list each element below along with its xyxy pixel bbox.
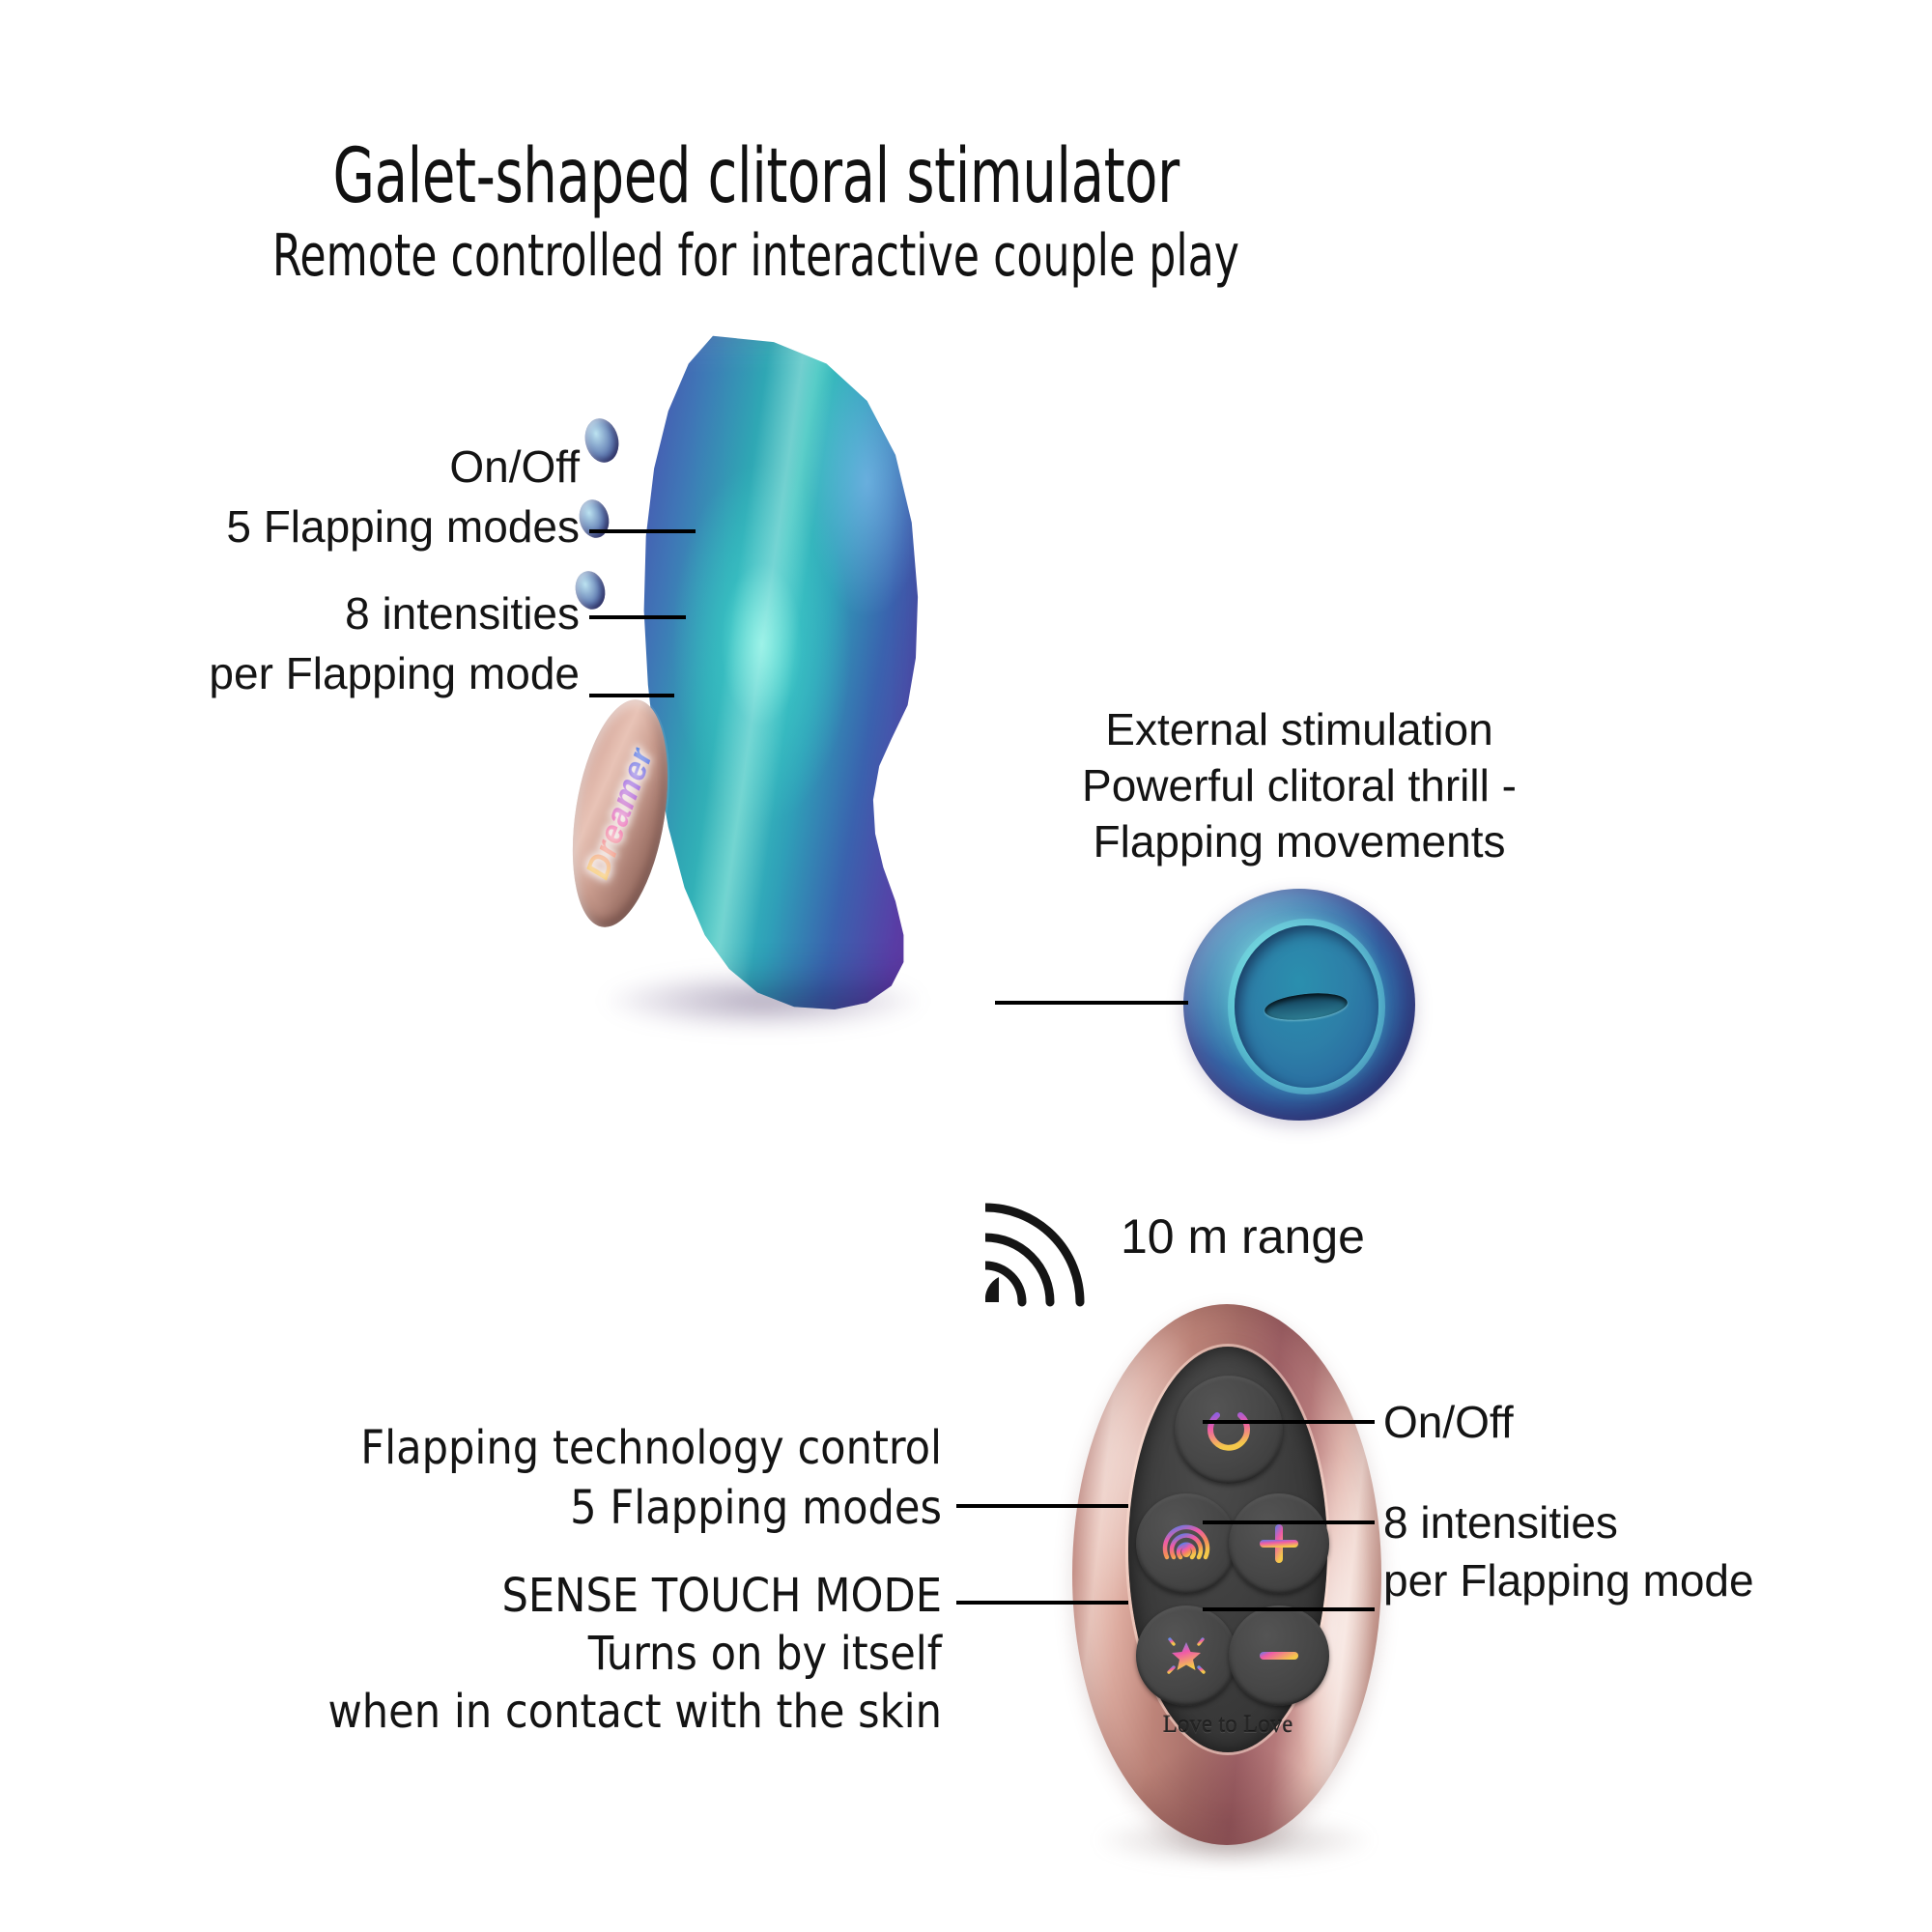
flapping-mode-button[interactable] bbox=[1136, 1493, 1236, 1594]
nozzle-recess-ring bbox=[1235, 925, 1378, 1088]
device-intensity-up-button bbox=[576, 497, 613, 541]
page-title-text: Galet-shaped clitoral stimulator bbox=[332, 135, 1179, 218]
power-icon bbox=[1202, 1403, 1256, 1457]
leader-line-remote-intensity-1 bbox=[1203, 1520, 1375, 1524]
device-intensity-annotation: 8 intensities per Flapping mode bbox=[87, 583, 580, 703]
device-power-annotation-line1: On/Off bbox=[87, 437, 580, 497]
concentric-rings-icon bbox=[1161, 1519, 1211, 1569]
remote-mode-annotation-line2: 5 Flapping modes bbox=[174, 1478, 942, 1538]
leader-line-remote-power bbox=[1203, 1420, 1375, 1424]
remote-intensity-annotation-line1: 8 intensities bbox=[1383, 1493, 1886, 1551]
minus-icon bbox=[1254, 1631, 1304, 1681]
wifi-signal-icon bbox=[985, 1196, 1092, 1312]
remote-mode-annotation: Flapping technology control 5 Flapping m… bbox=[174, 1418, 942, 1538]
leader-line-remote-sense bbox=[956, 1601, 1128, 1605]
stimulator-device-illustration: Dreamer bbox=[551, 333, 1014, 1067]
page-title: Galet-shaped clitoral stimulator bbox=[0, 135, 1512, 218]
page-subtitle-text: Remote controlled for interactive couple… bbox=[272, 224, 1239, 288]
intensity-up-button[interactable] bbox=[1229, 1493, 1329, 1594]
leader-line-device-intensity-1 bbox=[589, 615, 686, 619]
intensity-down-button[interactable] bbox=[1229, 1605, 1329, 1706]
dreamer-brand-logo: Dreamer bbox=[579, 743, 661, 884]
remote-brand-label: Love to Love bbox=[1128, 1712, 1327, 1739]
remote-control-illustration: Love to Love bbox=[1072, 1304, 1401, 1893]
nozzle-opening-slot bbox=[1264, 990, 1349, 1024]
power-icon-button[interactable] bbox=[1175, 1376, 1283, 1484]
nozzle-annotation: External stimulation Powerful clitoral t… bbox=[1029, 701, 1570, 869]
nozzle-closeup-illustration bbox=[1183, 889, 1415, 1121]
remote-power-annotation-line1: On/Off bbox=[1383, 1393, 1886, 1451]
page-subtitle: Remote controlled for interactive couple… bbox=[0, 224, 1512, 288]
remote-sense-annotation-line2: Turns on by itself bbox=[174, 1625, 942, 1683]
leader-line-remote-mode bbox=[956, 1504, 1128, 1508]
remote-intensity-annotation-line2: per Flapping mode bbox=[1383, 1551, 1886, 1609]
remote-intensity-annotation: 8 intensities per Flapping mode bbox=[1383, 1493, 1886, 1609]
nozzle-annotation-line3: Flapping movements bbox=[1029, 813, 1570, 869]
plus-icon bbox=[1254, 1519, 1304, 1569]
leader-line-device-intensity-2 bbox=[589, 694, 674, 697]
remote-sense-annotation: SENSE TOUCH MODE Turns on by itself when… bbox=[174, 1567, 942, 1741]
nozzle-annotation-line1: External stimulation bbox=[1029, 701, 1570, 757]
device-power-button bbox=[581, 415, 623, 467]
remote-button-panel: Love to Love bbox=[1128, 1347, 1327, 1752]
sense-touch-button[interactable] bbox=[1136, 1605, 1236, 1706]
remote-power-annotation: On/Off bbox=[1383, 1393, 1886, 1451]
device-intensity-annotation-line1: 8 intensities bbox=[87, 583, 580, 643]
wireless-range-text: 10 m range bbox=[1121, 1207, 1526, 1265]
device-intensity-annotation-line2: per Flapping mode bbox=[87, 643, 580, 703]
star-burst-icon bbox=[1161, 1631, 1211, 1681]
remote-mode-annotation-line1: Flapping technology control bbox=[174, 1418, 942, 1478]
device-power-annotation-line2: 5 Flapping modes bbox=[87, 497, 580, 556]
leader-line-nozzle bbox=[995, 1001, 1188, 1005]
remote-sense-annotation-line3: when in contact with the skin bbox=[174, 1683, 942, 1741]
wireless-range-label: 10 m range bbox=[1121, 1207, 1526, 1265]
device-power-annotation: On/Off 5 Flapping modes bbox=[87, 437, 580, 556]
infographic-canvas: Galet-shaped clitoral stimulator Remote … bbox=[0, 0, 1932, 1932]
leader-line-remote-intensity-2 bbox=[1203, 1607, 1375, 1611]
leader-line-device-power bbox=[589, 529, 696, 533]
nozzle-annotation-line2: Powerful clitoral thrill - bbox=[1029, 757, 1570, 813]
remote-sense-annotation-line1: SENSE TOUCH MODE bbox=[174, 1567, 942, 1625]
